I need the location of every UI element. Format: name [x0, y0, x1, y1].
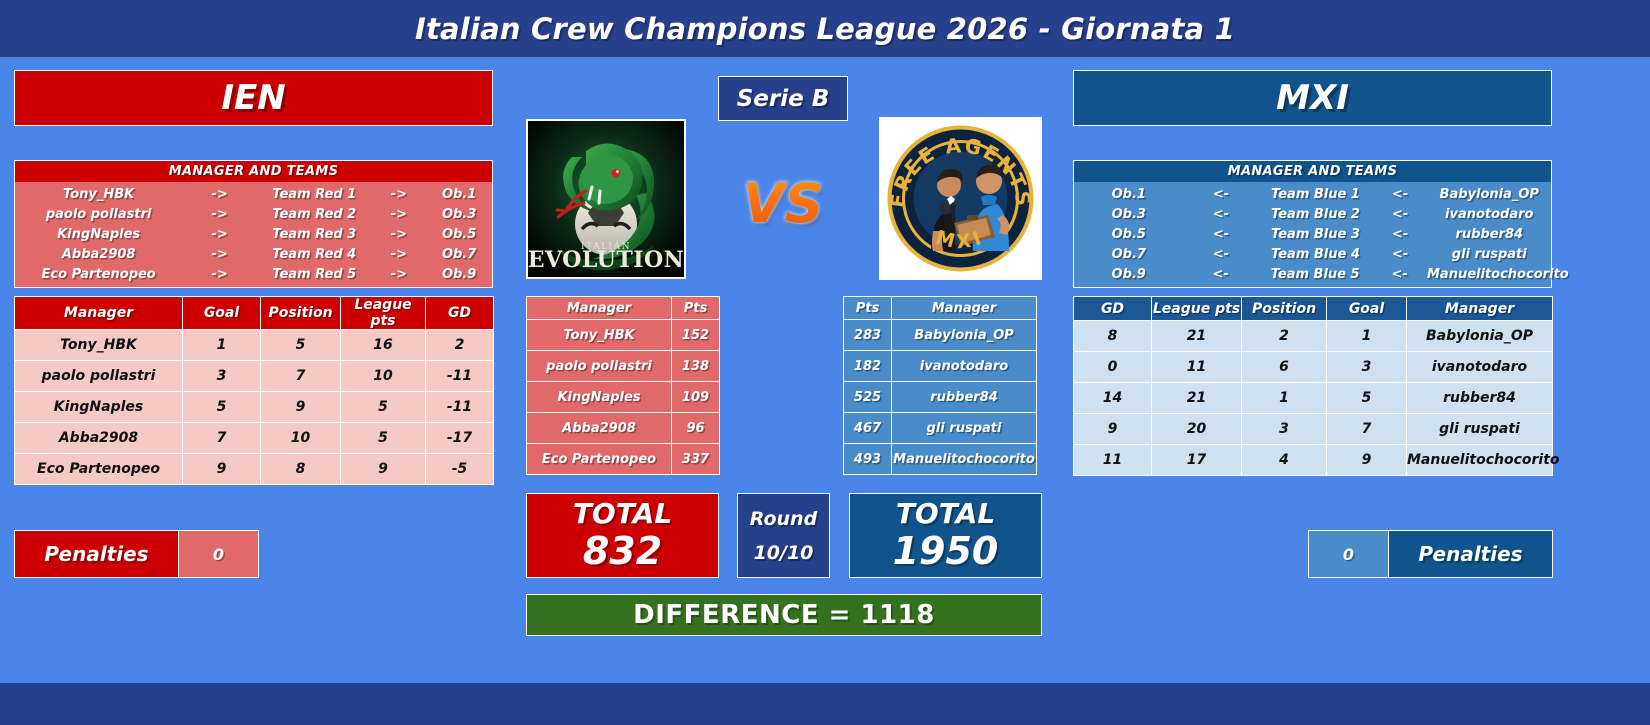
cell-manager: rubber84 — [892, 382, 1037, 413]
cell-pts: 467 — [844, 413, 892, 444]
free-agents-crest-icon: FREE AGENTS MXI — [881, 119, 1040, 278]
cell-manager: Abba2908 — [527, 413, 672, 444]
cell-manager: Babylonia_OP — [892, 320, 1037, 351]
cell-goal: 9 — [183, 454, 261, 485]
arrow-left-icon: <- — [1373, 187, 1428, 202]
cell-pts: 96 — [672, 413, 720, 444]
right-manager-teams-row: Ob.5 <- Team Blue 3 <- rubber84 — [1074, 224, 1551, 244]
cell-pts: 109 — [672, 382, 720, 413]
arrow-right-icon: -> — [182, 267, 257, 282]
manager-cell: Tony_HBK — [15, 187, 182, 202]
cell-league-pts: 16 — [341, 330, 426, 361]
table-row: 493 Manuelitochocorito — [844, 444, 1037, 475]
left-manager-teams-body: Tony_HBK -> Team Red 1 -> Ob.1 paolo pol… — [15, 182, 492, 287]
cell-gd: 8 — [1074, 321, 1152, 352]
arrow-right-icon: -> — [182, 187, 257, 202]
left-penalties-label: Penalties — [15, 531, 178, 577]
cell-gd: -17 — [426, 423, 494, 454]
right-manager-teams-row: Ob.3 <- Team Blue 2 <- ivanotodaro — [1074, 204, 1551, 224]
cell-pts: 525 — [844, 382, 892, 413]
cell-manager: ivanotodaro — [892, 351, 1037, 382]
footer-bar — [0, 683, 1650, 725]
cell-manager: Eco Partenopeo — [15, 454, 183, 485]
cell-position: 5 — [261, 330, 341, 361]
cell-manager: gli ruspati — [892, 413, 1037, 444]
cell-position: 10 — [261, 423, 341, 454]
table-row: Tony_HBK 152 — [527, 320, 720, 351]
col-pts: Pts — [672, 297, 720, 320]
arrow-right-icon: -> — [372, 247, 427, 262]
table-row: 0 11 6 3 ivanotodaro — [1074, 352, 1553, 383]
cell-gd: -5 — [426, 454, 494, 485]
cell-manager: ivanotodaro — [1407, 352, 1553, 383]
cell-manager: Tony_HBK — [527, 320, 672, 351]
difference-text: DIFFERENCE = 1118 — [633, 600, 935, 630]
objective-cell: Ob.5 — [1074, 227, 1184, 242]
left-team-banner: IEN — [14, 70, 493, 126]
table-row: 182 ivanotodaro — [844, 351, 1037, 382]
col-manager: Manager — [1407, 297, 1553, 321]
cell-league-pts: 17 — [1152, 445, 1242, 476]
versus-text: VS — [743, 172, 824, 235]
cell-gd: 14 — [1074, 383, 1152, 414]
cell-manager: KingNaples — [15, 392, 183, 423]
cell-manager: rubber84 — [1407, 383, 1553, 414]
cell-pts: 283 — [844, 320, 892, 351]
col-goal: Goal — [183, 297, 261, 330]
arrow-right-icon: -> — [372, 207, 427, 222]
objective-cell: Ob.3 — [1074, 207, 1184, 222]
table-row: KingNaples 109 — [527, 382, 720, 413]
round-value: 10/10 — [754, 542, 814, 564]
objective-cell: Ob.3 — [426, 207, 492, 222]
left-manager-teams-block: MANAGER AND TEAMS Tony_HBK -> Team Red 1… — [14, 160, 493, 288]
table-row: 283 Babylonia_OP — [844, 320, 1037, 351]
right-manager-teams-header: MANAGER AND TEAMS — [1074, 161, 1551, 182]
left-team-name: IEN — [221, 78, 285, 118]
series-badge-label: Serie B — [737, 86, 830, 112]
team-cell: Team Red 4 — [257, 247, 372, 262]
right-points-header-row: Pts Manager — [844, 297, 1037, 320]
objective-cell: Ob.1 — [1074, 187, 1184, 202]
right-manager-teams-row: Ob.9 <- Team Blue 5 <- Manuelitochocorit… — [1074, 264, 1551, 284]
cell-gd: 2 — [426, 330, 494, 361]
cell-pts: 152 — [672, 320, 720, 351]
team-cell: Team Red 2 — [257, 207, 372, 222]
table-row: paolo pollastri 3 7 10 -11 — [15, 361, 494, 392]
arrow-right-icon: -> — [182, 227, 257, 242]
cell-goal: 3 — [183, 361, 261, 392]
arrow-left-icon: <- — [1373, 247, 1428, 262]
cell-manager: paolo pollastri — [527, 351, 672, 382]
col-gd: GD — [426, 297, 494, 330]
manager-cell: paolo pollastri — [15, 207, 182, 222]
cell-league-pts: 21 — [1152, 321, 1242, 352]
right-stats-table: GD League pts Position Goal Manager 8 21… — [1073, 296, 1553, 476]
objective-cell: Ob.9 — [1074, 267, 1183, 282]
cell-goal: 9 — [1327, 445, 1407, 476]
col-goal: Goal — [1327, 297, 1407, 321]
right-stats-header-row: GD League pts Position Goal Manager — [1074, 297, 1553, 321]
table-row: 9 20 3 7 gli ruspati — [1074, 414, 1553, 445]
svg-text:EVOLUTION: EVOLUTION — [528, 247, 684, 273]
table-row: 11 17 4 9 Manuelitochocorito — [1074, 445, 1553, 476]
cell-league-pts: 10 — [341, 361, 426, 392]
left-stats-table: Manager Goal Position League pts GD Tony… — [14, 296, 494, 485]
cell-gd: 9 — [1074, 414, 1152, 445]
cell-goal: 1 — [183, 330, 261, 361]
manager-cell: Eco Partenopeo — [15, 267, 182, 282]
table-row: Abba2908 7 10 5 -17 — [15, 423, 494, 454]
table-row: Eco Partenopeo 337 — [527, 444, 720, 475]
arrow-right-icon: -> — [372, 187, 427, 202]
cell-position: 2 — [1242, 321, 1327, 352]
arrow-left-icon: <- — [1183, 267, 1258, 282]
free-agents-mxi-logo: FREE AGENTS MXI — [879, 117, 1042, 280]
cell-position: 4 — [1242, 445, 1327, 476]
cell-manager: Babylonia_OP — [1407, 321, 1553, 352]
cell-manager: Eco Partenopeo — [527, 444, 672, 475]
title-bar: Italian Crew Champions League 2026 - Gio… — [0, 0, 1650, 57]
team-cell: Team Blue 2 — [1258, 207, 1373, 222]
left-total-value: 832 — [583, 530, 662, 574]
right-manager-teams-block: MANAGER AND TEAMS Ob.1 <- Team Blue 1 <-… — [1073, 160, 1552, 288]
italian-evolution-snake-logo: ITALIAN EVOLUTION — [526, 119, 686, 279]
cell-goal: 7 — [183, 423, 261, 454]
cell-gd: -11 — [426, 361, 494, 392]
col-pts: Pts — [844, 297, 892, 320]
page-title: Italian Crew Champions League 2026 - Gio… — [0, 0, 1650, 57]
table-row: 467 gli ruspati — [844, 413, 1037, 444]
col-manager: Manager — [15, 297, 183, 330]
left-penalties-value: 0 — [178, 531, 258, 577]
cell-pts: 337 — [672, 444, 720, 475]
col-manager: Manager — [527, 297, 672, 320]
arrow-left-icon: <- — [1373, 227, 1428, 242]
cell-goal: 1 — [1327, 321, 1407, 352]
right-total-value: 1950 — [893, 530, 999, 574]
cell-manager: Manuelitochocorito — [1407, 445, 1553, 476]
right-manager-teams-row: Ob.1 <- Team Blue 1 <- Babylonia_OP — [1074, 184, 1551, 204]
round-box: Round 10/10 — [737, 493, 830, 578]
right-total-label: TOTAL — [896, 498, 995, 530]
table-row: Eco Partenopeo 9 8 9 -5 — [15, 454, 494, 485]
cell-pts: 138 — [672, 351, 720, 382]
arrow-left-icon: <- — [1373, 207, 1428, 222]
series-badge: Serie B — [718, 76, 848, 121]
team-cell: Team Blue 5 — [1258, 267, 1372, 282]
cell-position: 1 — [1242, 383, 1327, 414]
cell-goal: 5 — [1327, 383, 1407, 414]
cell-manager: KingNaples — [527, 382, 672, 413]
left-stats-header-row: Manager Goal Position League pts GD — [15, 297, 494, 330]
table-row: Tony_HBK 1 5 16 2 — [15, 330, 494, 361]
arrow-right-icon: -> — [182, 247, 257, 262]
arrow-left-icon: <- — [1184, 207, 1259, 222]
table-row: Abba2908 96 — [527, 413, 720, 444]
cell-goal: 7 — [1327, 414, 1407, 445]
left-manager-teams-row: Abba2908 -> Team Red 4 -> Ob.7 — [15, 244, 492, 264]
difference-banner: DIFFERENCE = 1118 — [526, 594, 1042, 636]
cell-league-pts: 11 — [1152, 352, 1242, 383]
right-team-name: MXI — [1276, 78, 1349, 118]
cell-pts: 493 — [844, 444, 892, 475]
right-manager-teams-row: Ob.7 <- Team Blue 4 <- gli ruspati — [1074, 244, 1551, 264]
col-position: Position — [261, 297, 341, 330]
cell-position: 9 — [261, 392, 341, 423]
table-row: paolo pollastri 138 — [527, 351, 720, 382]
arrow-right-icon: -> — [372, 267, 427, 282]
left-manager-teams-row: Eco Partenopeo -> Team Red 5 -> Ob.9 — [15, 264, 492, 284]
arrow-left-icon: <- — [1372, 267, 1427, 282]
right-penalties: 0 Penalties — [1308, 530, 1553, 578]
cell-league-pts: 20 — [1152, 414, 1242, 445]
left-manager-teams-header: MANAGER AND TEAMS — [15, 161, 492, 182]
col-league-pts: League pts — [1152, 297, 1242, 321]
round-label: Round — [750, 508, 817, 530]
cell-manager: Abba2908 — [15, 423, 183, 454]
col-league-pts: League pts — [341, 297, 426, 330]
col-gd: GD — [1074, 297, 1152, 321]
snake-crest-icon: ITALIAN EVOLUTION — [528, 121, 684, 277]
left-total-label: TOTAL — [573, 498, 672, 530]
cell-manager: paolo pollastri — [15, 361, 183, 392]
arrow-left-icon: <- — [1184, 247, 1259, 262]
table-row: 14 21 1 5 rubber84 — [1074, 383, 1553, 414]
team-cell: Team Blue 4 — [1258, 247, 1373, 262]
cell-gd: 0 — [1074, 352, 1152, 383]
cell-league-pts: 9 — [341, 454, 426, 485]
team-cell: Team Blue 3 — [1258, 227, 1373, 242]
team-cell: Team Red 3 — [257, 227, 372, 242]
left-manager-teams-row: paolo pollastri -> Team Red 2 -> Ob.3 — [15, 204, 492, 224]
right-manager-teams-body: Ob.1 <- Team Blue 1 <- Babylonia_OP Ob.3… — [1074, 182, 1551, 287]
manager-cell: KingNaples — [15, 227, 182, 242]
objective-cell: Ob.5 — [426, 227, 492, 242]
right-points-table: Pts Manager 283 Babylonia_OP 182 ivanoto… — [843, 296, 1037, 475]
cell-gd: 11 — [1074, 445, 1152, 476]
cell-league-pts: 5 — [341, 423, 426, 454]
cell-goal: 5 — [183, 392, 261, 423]
col-manager: Manager — [892, 297, 1037, 320]
table-row: 525 rubber84 — [844, 382, 1037, 413]
cell-position: 6 — [1242, 352, 1327, 383]
right-penalties-value: 0 — [1309, 531, 1389, 577]
cell-position: 3 — [1242, 414, 1327, 445]
objective-cell: Ob.1 — [426, 187, 492, 202]
left-points-header-row: Manager Pts — [527, 297, 720, 320]
manager-cell: Babylonia_OP — [1428, 187, 1551, 202]
cell-league-pts: 5 — [341, 392, 426, 423]
cell-pts: 182 — [844, 351, 892, 382]
left-total-box: TOTAL 832 — [526, 493, 719, 578]
objective-cell: Ob.7 — [426, 247, 492, 262]
manager-cell: rubber84 — [1428, 227, 1551, 242]
cell-manager: Manuelitochocorito — [892, 444, 1037, 475]
right-total-box: TOTAL 1950 — [849, 493, 1042, 578]
cell-manager: gli ruspati — [1407, 414, 1553, 445]
left-manager-teams-row: Tony_HBK -> Team Red 1 -> Ob.1 — [15, 184, 492, 204]
manager-cell: gli ruspati — [1428, 247, 1551, 262]
arrow-right-icon: -> — [372, 227, 427, 242]
left-points-table: Manager Pts Tony_HBK 152 paolo pollastri… — [526, 296, 720, 475]
cell-goal: 3 — [1327, 352, 1407, 383]
col-position: Position — [1242, 297, 1327, 321]
left-manager-teams-row: KingNaples -> Team Red 3 -> Ob.5 — [15, 224, 492, 244]
arrow-left-icon: <- — [1184, 187, 1259, 202]
left-penalties: Penalties 0 — [14, 530, 259, 578]
cell-league-pts: 21 — [1152, 383, 1242, 414]
cell-position: 7 — [261, 361, 341, 392]
arrow-right-icon: -> — [182, 207, 257, 222]
right-team-banner: MXI — [1073, 70, 1552, 126]
manager-cell: Manuelitochocorito — [1427, 267, 1551, 282]
cell-gd: -11 — [426, 392, 494, 423]
team-cell: Team Red 1 — [257, 187, 372, 202]
cell-position: 8 — [261, 454, 341, 485]
manager-cell: Abba2908 — [15, 247, 182, 262]
table-row: KingNaples 5 9 5 -11 — [15, 392, 494, 423]
versus-label: VS — [706, 170, 860, 236]
cell-manager: Tony_HBK — [15, 330, 183, 361]
team-cell: Team Red 5 — [257, 267, 372, 282]
team-cell: Team Blue 1 — [1258, 187, 1373, 202]
table-row: 8 21 2 1 Babylonia_OP — [1074, 321, 1553, 352]
manager-cell: ivanotodaro — [1428, 207, 1551, 222]
objective-cell: Ob.9 — [426, 267, 492, 282]
right-penalties-label: Penalties — [1389, 531, 1552, 577]
objective-cell: Ob.7 — [1074, 247, 1184, 262]
arrow-left-icon: <- — [1184, 227, 1259, 242]
